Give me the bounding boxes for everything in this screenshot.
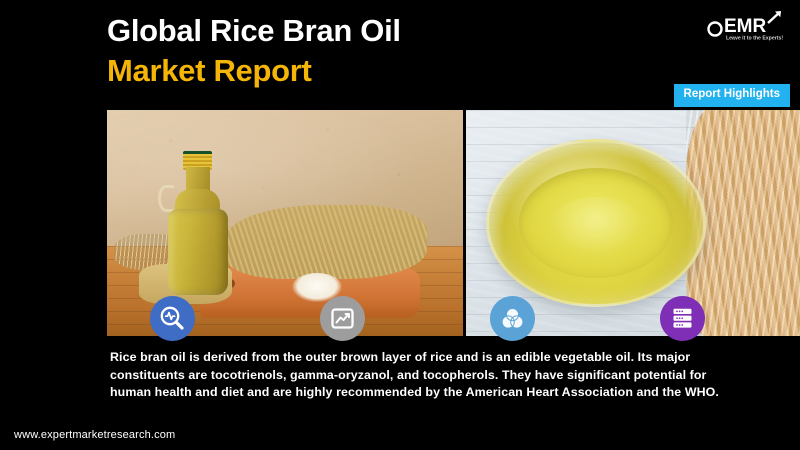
- page-title: Global Rice Bran Oil Market Report: [107, 12, 401, 90]
- title-line-primary: Global Rice Bran Oil: [107, 12, 401, 50]
- title-line-secondary: Market Report: [107, 52, 401, 90]
- bottle-body: [168, 209, 229, 296]
- icon-row: [0, 296, 800, 342]
- market-analysis-icon[interactable]: [150, 296, 195, 341]
- photo-oil-bottle: [168, 146, 229, 295]
- emr-logo[interactable]: EMR Leave it to the Experts!: [706, 8, 788, 42]
- segmentation-venn-icon[interactable]: [490, 296, 535, 341]
- growth-chart-icon[interactable]: [320, 296, 365, 341]
- emr-logo-tagline: Leave it to the Experts!: [726, 36, 783, 42]
- photo-glass-bowl-of-oil: [486, 139, 706, 306]
- photo-rice-stalks: [224, 205, 427, 280]
- data-server-icon[interactable]: [660, 296, 705, 341]
- emr-logo-arrow-icon: EMR Leave it to the Experts!: [706, 8, 788, 42]
- footer-website-url[interactable]: www.expertmarketresearch.com: [14, 429, 175, 441]
- svg-text:EMR: EMR: [724, 16, 767, 37]
- report-description: Rice bran oil is derived from the outer …: [110, 349, 728, 402]
- report-banner: Global Rice Bran Oil Market Report EMR L…: [0, 0, 800, 450]
- report-highlights-badge[interactable]: Report Highlights: [674, 84, 790, 107]
- bottle-handle: [158, 185, 174, 212]
